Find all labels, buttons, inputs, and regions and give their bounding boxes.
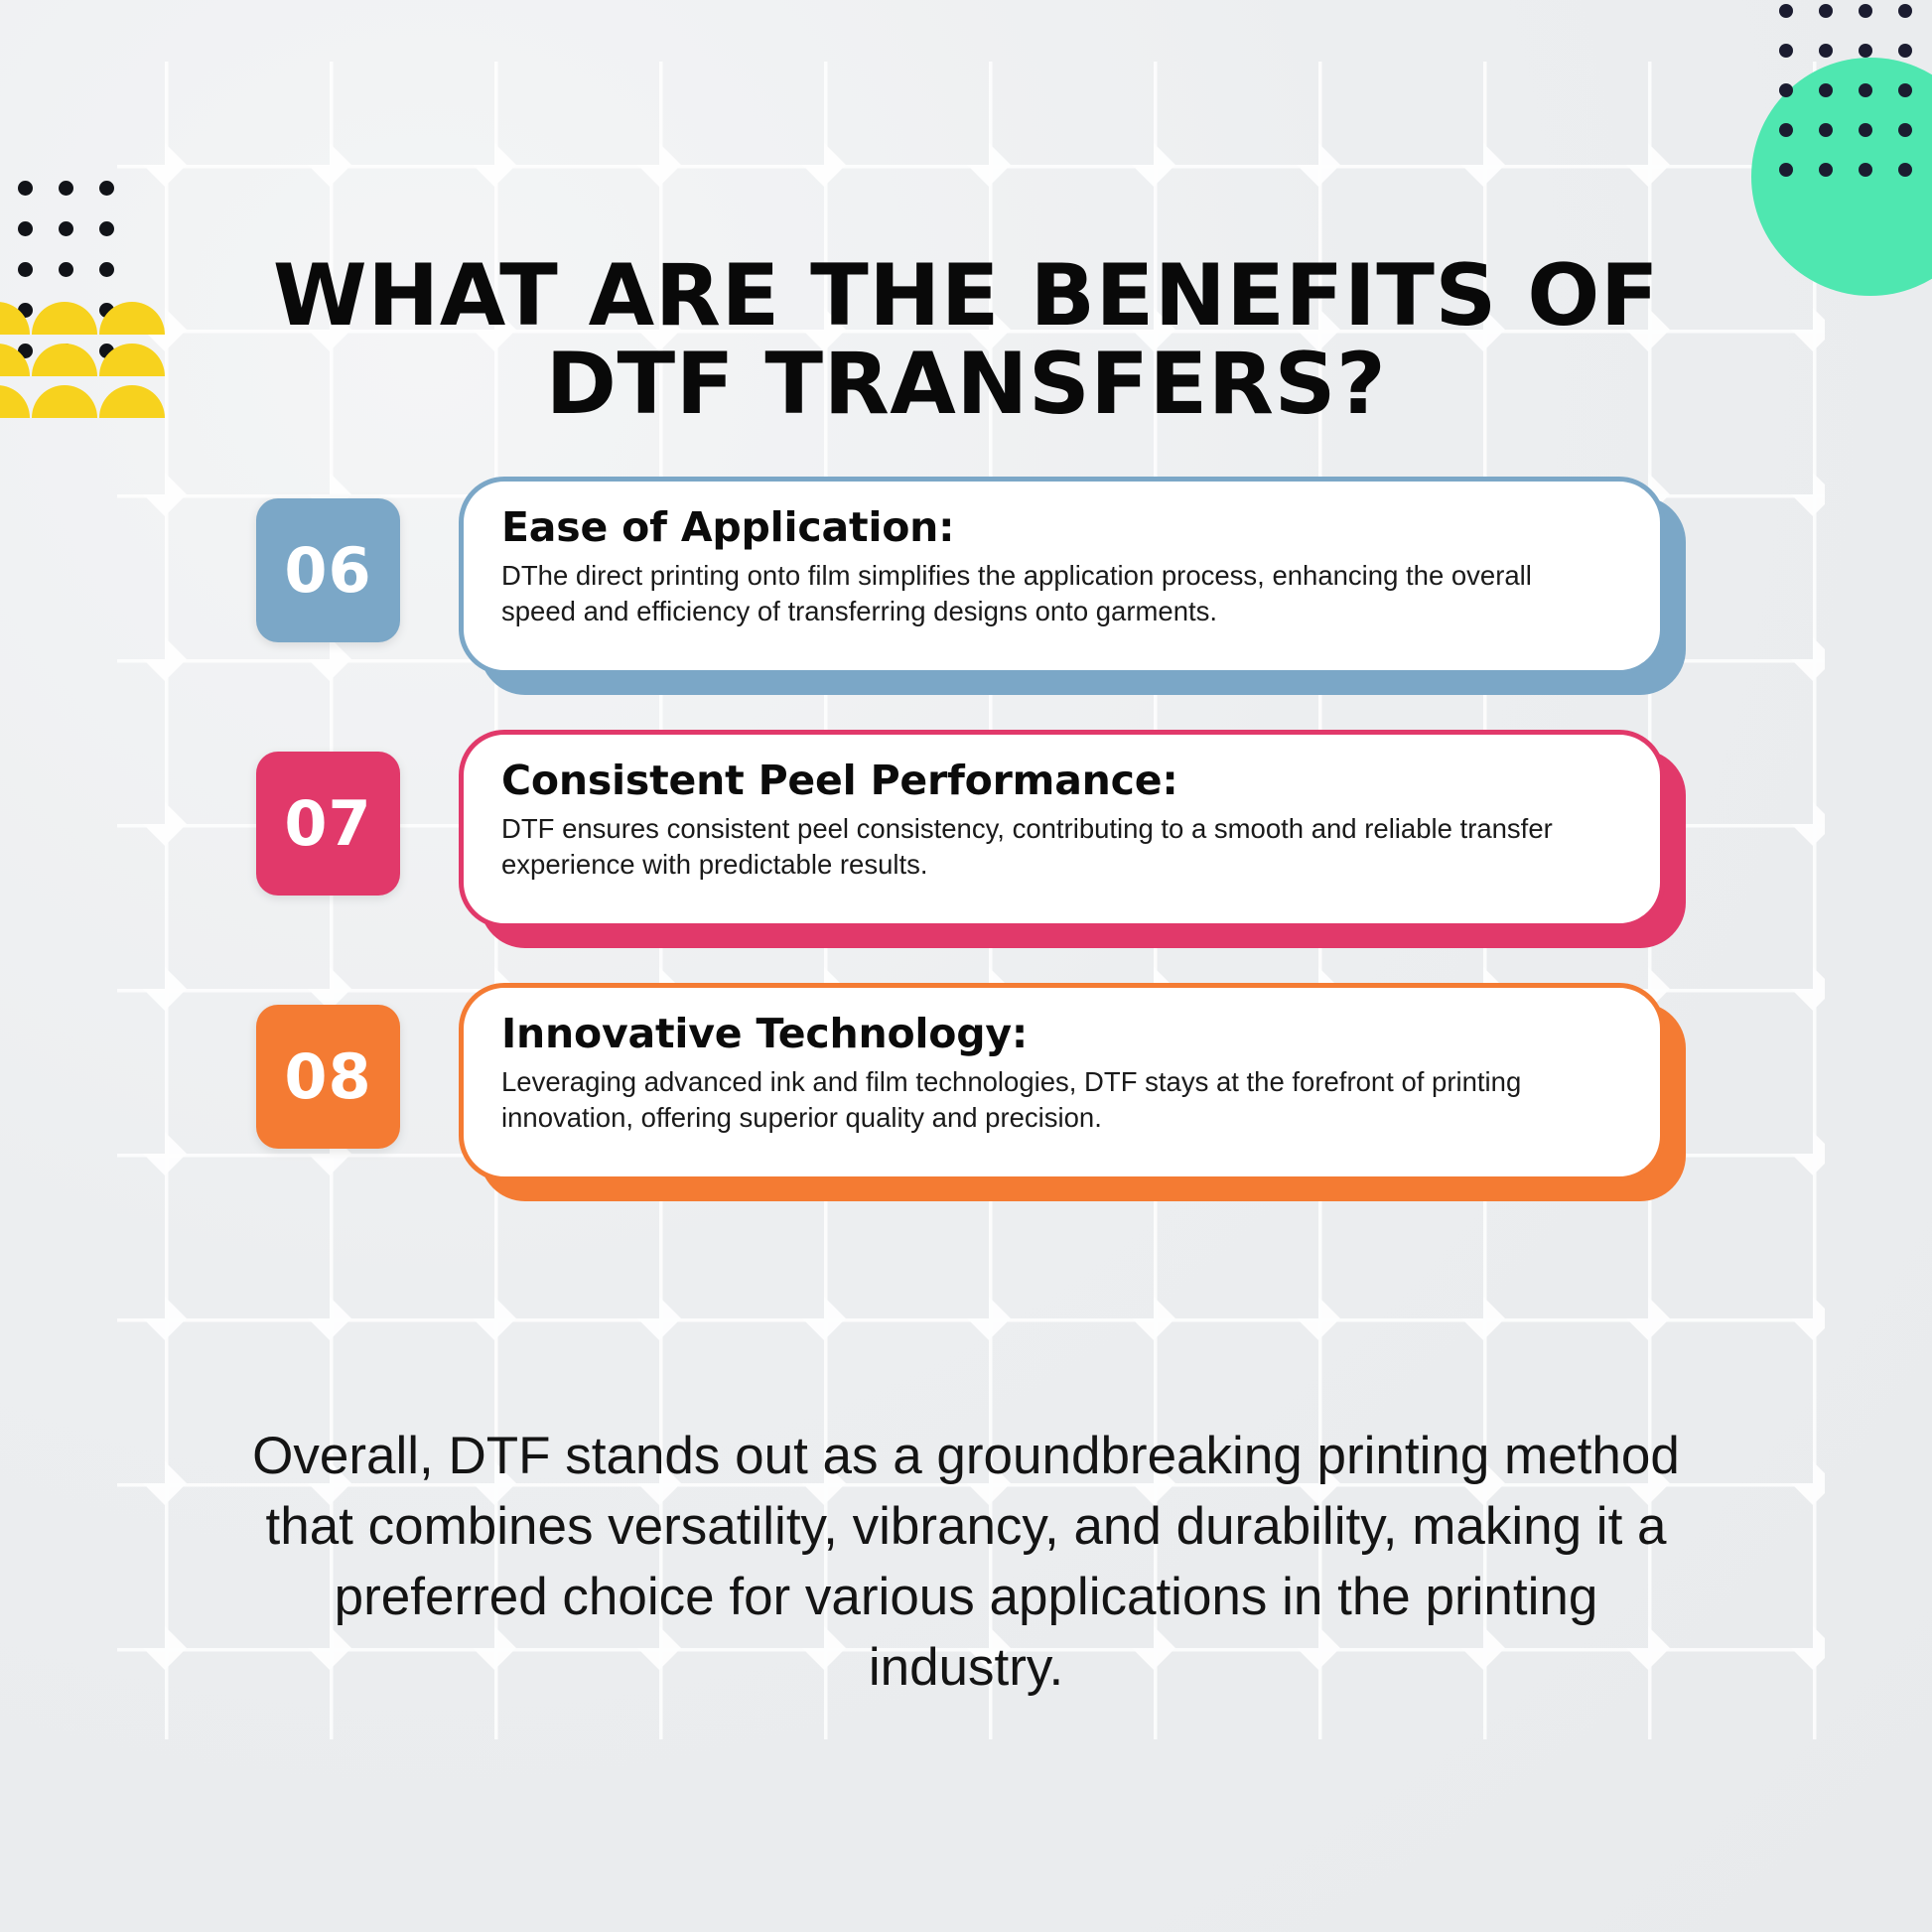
dot-decoration [1779, 44, 1793, 58]
yellow-semicircle-decoration [0, 302, 173, 427]
card-number-badge: 06 [256, 498, 400, 642]
semicircle-decoration [32, 302, 97, 335]
semicircle-decoration [0, 344, 30, 376]
dot-decoration [1819, 4, 1833, 18]
infographic-canvas: WHAT ARE THE BENEFITS OF DTF TRANSFERS? … [0, 0, 1932, 1932]
dot-decoration [1898, 4, 1912, 18]
card-body: Consistent Peel Performance: DTF ensures… [459, 730, 1665, 928]
dot-decoration [1859, 123, 1872, 137]
page-title: WHAT ARE THE BENEFITS OF DTF TRANSFERS? [241, 252, 1691, 430]
semicircle-decoration [32, 344, 97, 376]
dot-decoration [18, 221, 33, 236]
semicircle-decoration [0, 302, 30, 335]
dot-decoration [59, 181, 73, 196]
card-title: Innovative Technology: [501, 1012, 1614, 1056]
card-number-label: 06 [284, 534, 371, 607]
card-number-label: 07 [284, 787, 371, 860]
dot-decoration [1859, 44, 1872, 58]
dot-decoration [1779, 123, 1793, 137]
dot-decoration [1859, 83, 1872, 97]
card-description: Leveraging advanced ink and film technol… [501, 1064, 1584, 1137]
dot-decoration [99, 262, 114, 277]
benefit-card-list: Ease of Application: DThe direct printin… [0, 459, 1932, 1218]
semicircle-decoration [99, 385, 165, 418]
dot-decoration [1819, 123, 1833, 137]
card-number-badge: 07 [256, 752, 400, 896]
card-title: Ease of Application: [501, 505, 1614, 550]
dot-decoration [1819, 83, 1833, 97]
benefit-card-06: Ease of Application: DThe direct printin… [0, 459, 1932, 712]
dot-decoration [1859, 4, 1872, 18]
dot-decoration [1819, 163, 1833, 177]
dot-decoration [1898, 163, 1912, 177]
card-number-badge: 08 [256, 1005, 400, 1149]
semicircle-decoration [32, 385, 97, 418]
card-title: Consistent Peel Performance: [501, 759, 1614, 803]
dot-decoration [59, 221, 73, 236]
dot-decoration [1819, 44, 1833, 58]
dot-decoration [1898, 123, 1912, 137]
benefit-card-08: Innovative Technology: Leveraging advanc… [0, 965, 1932, 1218]
semicircle-decoration [99, 302, 165, 335]
dot-decoration [99, 221, 114, 236]
card-description: DTF ensures consistent peel consistency,… [501, 811, 1584, 884]
semicircle-decoration [0, 385, 30, 418]
dot-decoration [1898, 83, 1912, 97]
dot-decoration [99, 181, 114, 196]
dot-decoration [1779, 83, 1793, 97]
card-number-label: 08 [284, 1040, 371, 1113]
card-body: Ease of Application: DThe direct printin… [459, 477, 1665, 675]
semicircle-decoration [99, 344, 165, 376]
benefit-card-07: Consistent Peel Performance: DTF ensures… [0, 712, 1932, 965]
card-description: DThe direct printing onto film simplifie… [501, 558, 1584, 630]
dot-decoration [18, 181, 33, 196]
dot-decoration [1779, 163, 1793, 177]
card-body: Innovative Technology: Leveraging advanc… [459, 983, 1665, 1181]
closing-paragraph: Overall, DTF stands out as a groundbreak… [241, 1421, 1691, 1703]
dot-decoration [18, 262, 33, 277]
navy-dot-grid-decoration [1779, 4, 1908, 222]
dot-decoration [1859, 163, 1872, 177]
dot-decoration [1898, 44, 1912, 58]
dot-decoration [59, 262, 73, 277]
dot-decoration [1779, 4, 1793, 18]
